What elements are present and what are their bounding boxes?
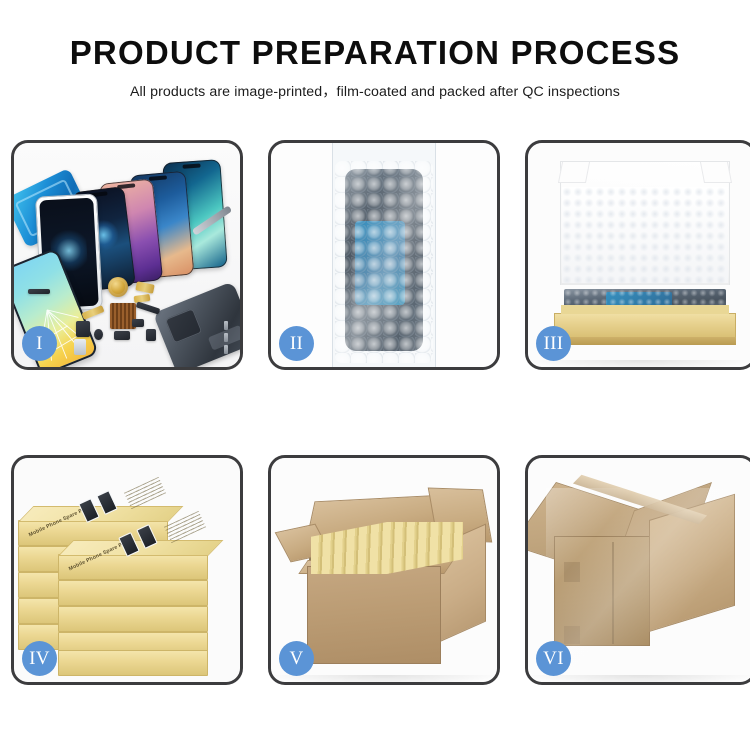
part-antenna-strip bbox=[136, 301, 161, 314]
screws-group bbox=[224, 321, 228, 357]
step-panel-1: I bbox=[11, 140, 243, 370]
drop-shadow bbox=[271, 675, 497, 682]
box-lid bbox=[58, 540, 223, 556]
film-gloss-overlay bbox=[335, 161, 433, 363]
step-panel-2: II bbox=[268, 140, 500, 370]
screw bbox=[224, 321, 228, 330]
part-connector-strip bbox=[28, 289, 50, 294]
page-title: PRODUCT PREPARATION PROCESS bbox=[0, 36, 750, 71]
step-badge-6: VI bbox=[536, 641, 571, 676]
step-badge-5: V bbox=[279, 641, 314, 676]
kraft-tray-front bbox=[554, 337, 736, 345]
part-button-assembly bbox=[132, 319, 144, 327]
drop-shadow bbox=[528, 675, 750, 682]
step-panel-5: V bbox=[268, 455, 500, 685]
part-camera-module bbox=[76, 321, 90, 337]
page-subtitle: All products are image-printed，film-coat… bbox=[0, 81, 750, 101]
process-step-grid: I II III bbox=[11, 140, 739, 685]
shrink-wrap-sheen bbox=[546, 488, 742, 670]
step-panel-6: VI bbox=[525, 455, 750, 685]
phone-notch bbox=[182, 163, 200, 168]
part-vibrator bbox=[114, 331, 130, 340]
part-copper-coil bbox=[108, 277, 128, 297]
open-export-carton bbox=[285, 482, 489, 674]
drop-shadow bbox=[528, 360, 750, 367]
retail-box bbox=[58, 650, 208, 676]
sealed-export-carton bbox=[538, 480, 748, 676]
part-battery bbox=[74, 339, 86, 355]
screw bbox=[224, 333, 228, 342]
header: PRODUCT PREPARATION PROCESS All products… bbox=[0, 0, 750, 101]
step-panel-3: III bbox=[525, 140, 750, 370]
step-badge-1: I bbox=[22, 326, 57, 361]
retail-box bbox=[58, 580, 208, 606]
part-sim-tray bbox=[146, 329, 156, 341]
part-flex-cable-b bbox=[134, 294, 151, 303]
packed-retail-boxes bbox=[311, 522, 463, 574]
box-lid bbox=[18, 506, 183, 522]
step-badge-2: II bbox=[279, 326, 314, 361]
box-spec-lines bbox=[124, 477, 166, 509]
step-badge-3: III bbox=[536, 326, 571, 361]
step-badge-4: IV bbox=[22, 641, 57, 676]
foam-lining bbox=[562, 187, 728, 283]
part-flex-cable-a bbox=[135, 281, 154, 294]
screw bbox=[224, 345, 228, 354]
step-panel-4: Mobile Phone Spare Parts Mobile Phone Sp… bbox=[11, 455, 243, 685]
product-preparation-infographic: PRODUCT PREPARATION PROCESS All products… bbox=[0, 0, 750, 750]
kraft-tray bbox=[554, 313, 736, 339]
phone-notch bbox=[149, 175, 167, 181]
retail-box bbox=[58, 606, 208, 632]
part-speaker bbox=[94, 329, 103, 340]
carton-front-panel bbox=[307, 566, 441, 664]
